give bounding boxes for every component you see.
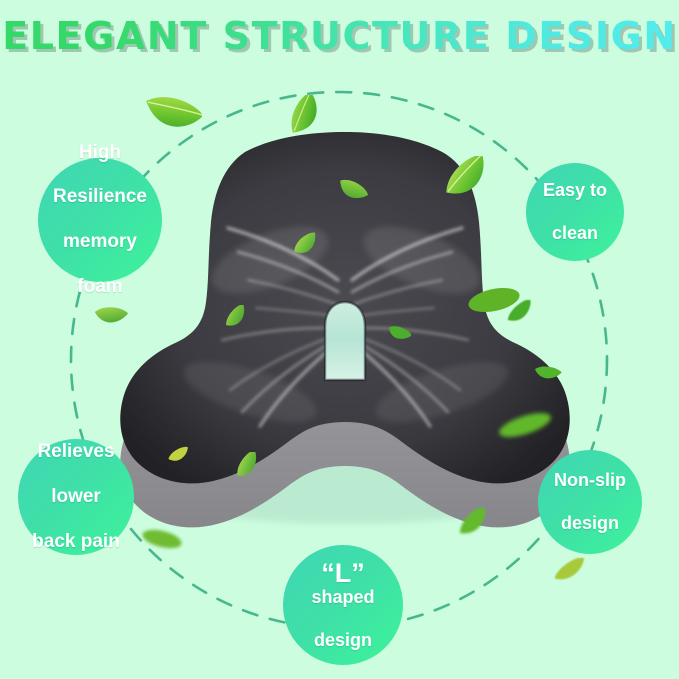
bubble-easy-to-clean[interactable]: Easy to clean bbox=[526, 163, 624, 261]
bubble-non-slip-design[interactable]: Non-slip design bbox=[538, 450, 642, 554]
leaf-icon bbox=[92, 302, 128, 332]
leaf-icon bbox=[440, 156, 496, 204]
leaf-icon bbox=[532, 362, 562, 386]
bubble-high-resilience-memory-foam[interactable]: High Resilience memory foam bbox=[38, 158, 162, 282]
leaf-icon bbox=[496, 408, 554, 442]
leaf-icon bbox=[455, 508, 495, 538]
bubble-label: Relieves lower back pain bbox=[20, 441, 132, 553]
bubble-label: “L” shaped design bbox=[299, 559, 386, 651]
leaf-icon bbox=[166, 446, 192, 466]
bubble-label: Easy to clean bbox=[531, 180, 619, 244]
leaf-icon bbox=[232, 452, 266, 480]
leaf-icon bbox=[138, 88, 202, 144]
bubble-l-shaped-design[interactable]: “L” shaped design bbox=[283, 545, 403, 665]
infographic-canvas: ELEGANT STRUCTURE DESIGN ELEGANT STRUCTU… bbox=[0, 0, 679, 679]
leaf-icon bbox=[283, 95, 331, 139]
leaf-icon bbox=[222, 305, 252, 331]
bubble-relieves-lower-back-pain[interactable]: Relieves lower back pain bbox=[18, 439, 134, 555]
leaf-icon bbox=[504, 300, 538, 326]
leaf-icon bbox=[474, 292, 475, 293]
leaf-icon bbox=[551, 558, 591, 584]
leaf-icon bbox=[334, 176, 368, 206]
bubble-label: Non-slip design bbox=[542, 470, 638, 534]
bubble-label: High Resilience memory foam bbox=[41, 142, 159, 299]
leaf-icon bbox=[385, 322, 411, 346]
leaf-icon bbox=[140, 525, 184, 553]
leaf-icon bbox=[291, 232, 321, 260]
